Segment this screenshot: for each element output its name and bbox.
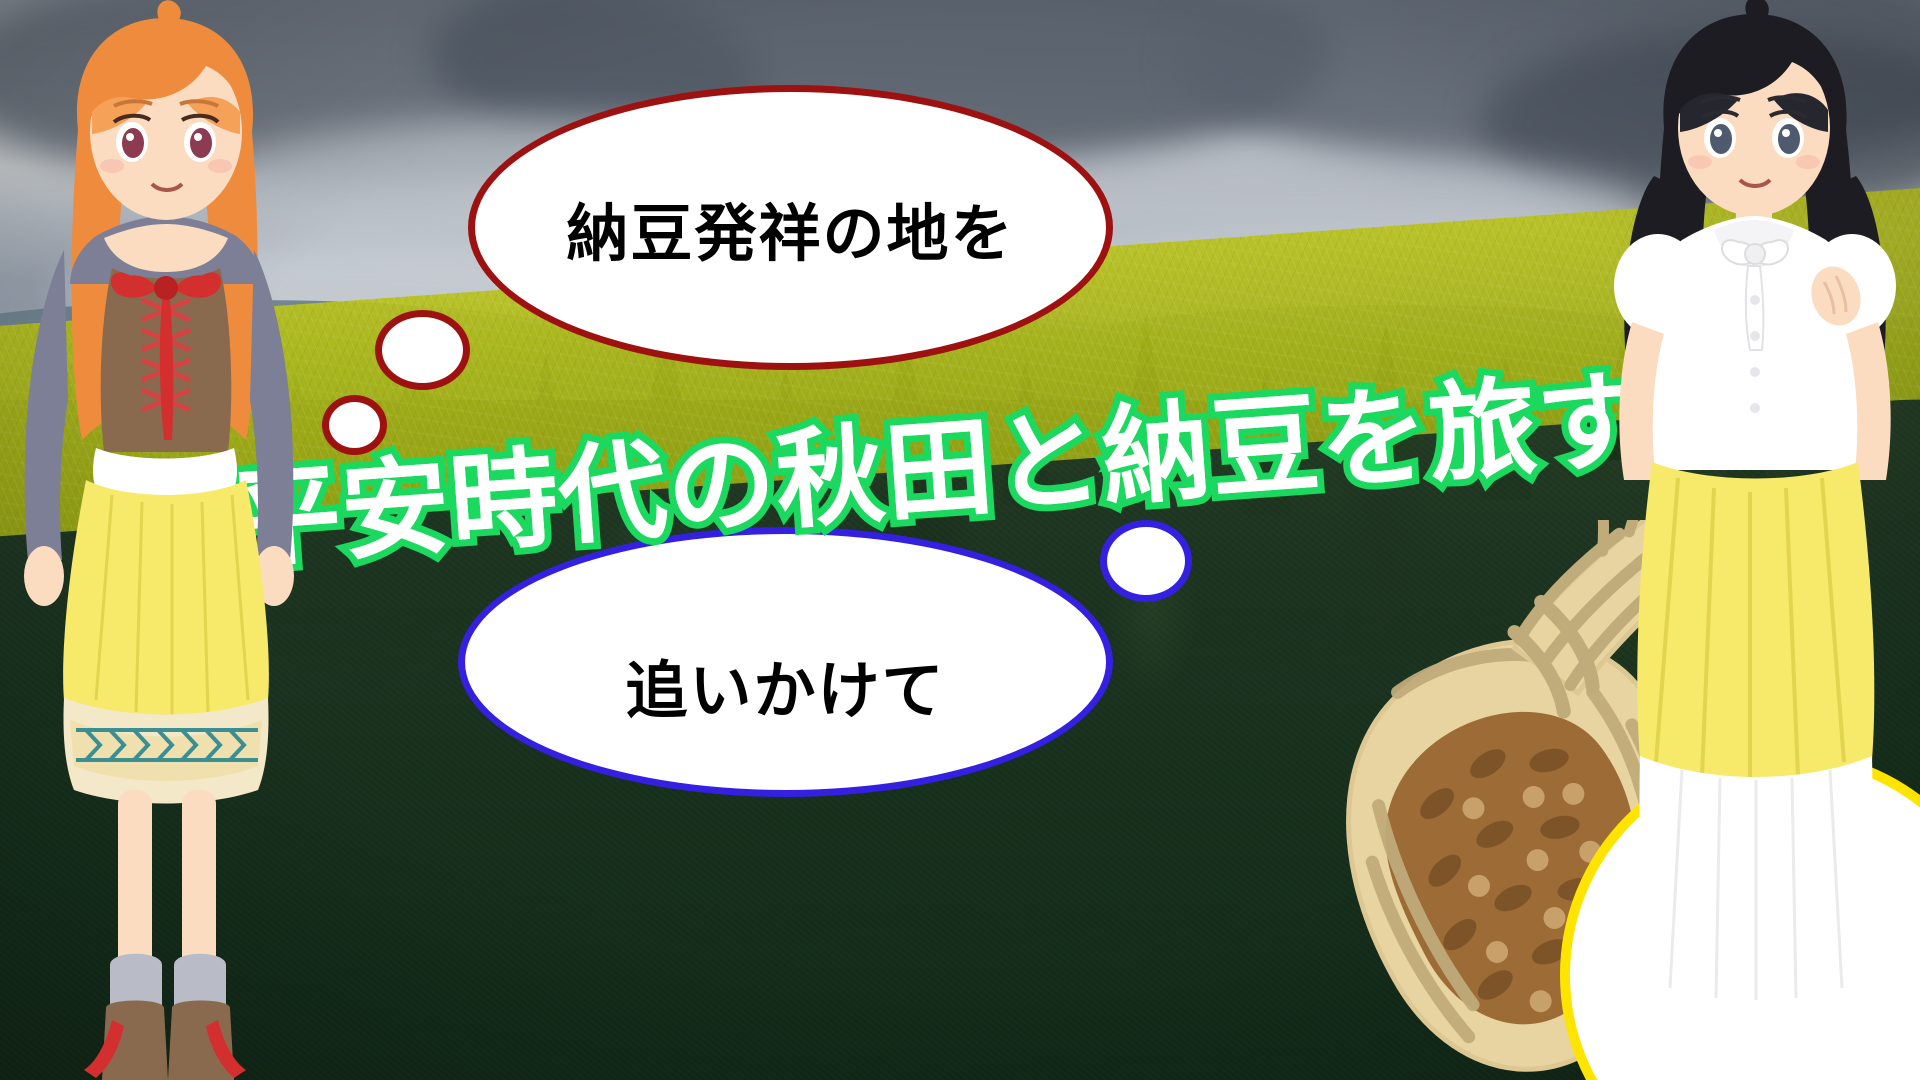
top-speech-bubble: 納豆発祥の地を xyxy=(468,85,1113,370)
bottom-speech-bubble: 追いかけて xyxy=(458,527,1113,797)
bottom-bubble-text: 追いかけて xyxy=(625,640,945,730)
thought-dot-red-large xyxy=(375,310,470,390)
character-right xyxy=(1590,0,1920,1080)
thought-dot-blue-small xyxy=(1100,520,1192,602)
title-card: 納豆発祥の地を 追いかけて 平安時代の秋田と納豆を旅する 平安時代の秋田と納豆を… xyxy=(0,0,1920,1080)
top-bubble-text: 納豆発祥の地を xyxy=(566,183,1014,273)
character-left xyxy=(0,0,330,1080)
